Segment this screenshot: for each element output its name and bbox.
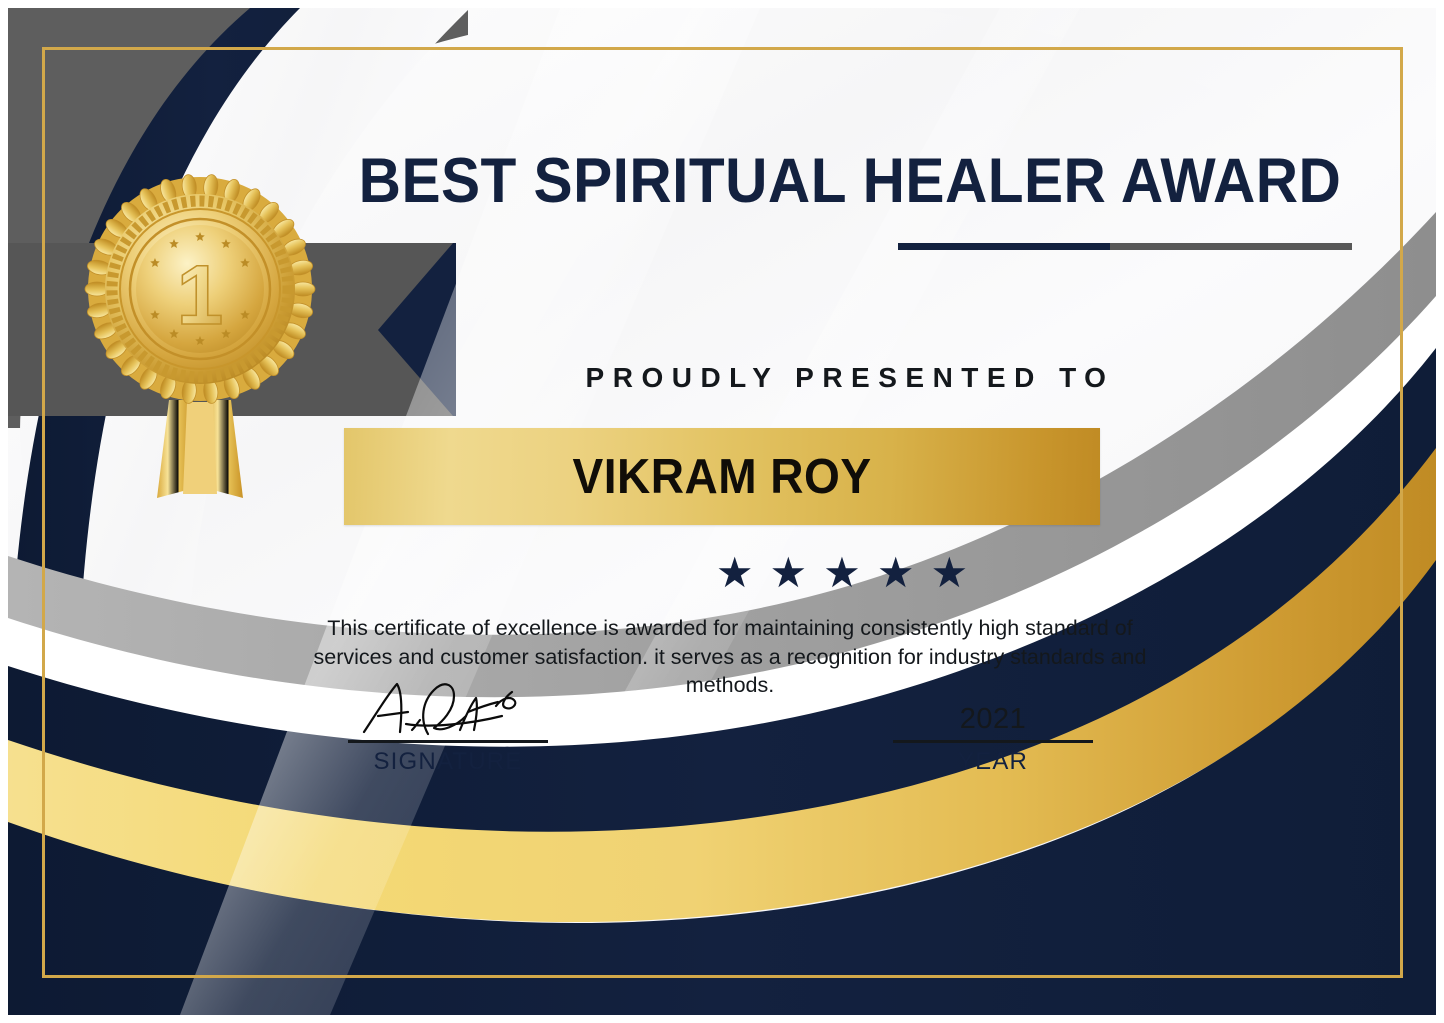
star-icon: ★	[930, 552, 984, 594]
page-title: BEST SPIRITUAL HEALER AWARD	[357, 148, 1343, 214]
year-line	[893, 740, 1093, 743]
certificate-canvas: 1 BEST SPIRITUAL HEALER AWARD PROUDLY PR…	[0, 0, 1444, 1023]
presented-to-label: PROUDLY PRESENTED TO	[340, 362, 1360, 394]
year-value: 2021	[893, 703, 1093, 736]
recipient-name-banner: VIKRAM ROY	[344, 428, 1100, 525]
star-icon: ★	[877, 552, 931, 594]
star-icon: ★	[823, 552, 877, 594]
year-label: YEAR	[893, 748, 1093, 776]
gold-rosette-medal-icon: 1	[83, 172, 317, 502]
star-icon: ★	[770, 552, 824, 594]
title-rule-navy-segment	[898, 243, 1110, 250]
signature-label: SIGNATURE	[348, 748, 548, 776]
recipient-name: VIKRAM ROY	[572, 449, 871, 505]
star-rating: ★★★★★	[340, 552, 1360, 594]
signature-line	[348, 740, 548, 743]
medal-rank-number: 1	[177, 248, 224, 342]
title-underline-rule	[898, 243, 1352, 250]
star-icon: ★	[716, 552, 770, 594]
title-rule-gray-segment	[1110, 243, 1352, 250]
signature-mark-icon	[350, 676, 550, 738]
